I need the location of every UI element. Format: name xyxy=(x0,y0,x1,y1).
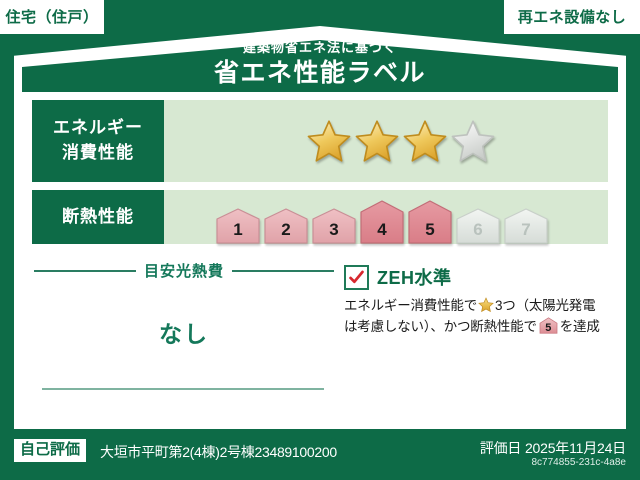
evaluation-id: 8c774855-231c-4a8e xyxy=(531,457,626,468)
star-rating xyxy=(164,100,608,182)
utility-cost-value: なし xyxy=(34,315,334,349)
insulation-step-2: 2 xyxy=(263,208,309,244)
zeh-description: エネルギー消費性能で 3つ（太陽光発電 xyxy=(344,296,606,338)
insulation-step-7: 7 xyxy=(503,208,549,244)
label-card: エネルギー 消費性能 断熱性能 1234567 目安光熱費 なし xyxy=(22,92,618,422)
energy-label-line2: 消費性能 xyxy=(62,141,134,166)
renewable-energy-tag: 再エネ設備なし xyxy=(504,0,640,34)
zeh-checkbox-checked-icon xyxy=(344,265,369,290)
star-filled-icon xyxy=(403,119,447,163)
cost-underline xyxy=(42,388,324,390)
zeh-title: ZEH水準 xyxy=(377,264,452,290)
insulation-step-5: 5 xyxy=(407,200,453,244)
energy-performance-row: エネルギー 消費性能 xyxy=(32,100,608,182)
evaluation-date-value: 2025年11月24日 xyxy=(525,440,626,456)
insulation-scale: 1234567 xyxy=(164,190,608,244)
evaluation-date: 評価日 2025年11月24日 xyxy=(480,438,626,458)
insulation-step-3: 3 xyxy=(311,208,357,244)
energy-label-line1: エネルギー xyxy=(53,116,143,141)
star-filled-icon xyxy=(355,119,399,163)
cost-rule-left xyxy=(34,270,136,272)
energy-performance-label: エネルギー 消費性能 xyxy=(32,100,164,182)
building-type-tag: 住宅（住戸） xyxy=(0,0,104,34)
zeh-desc-part2: は考慮しない）、かつ断熱性能で xyxy=(344,319,537,334)
zeh-block: ZEH水準 エネルギー消費性能で xyxy=(334,258,606,408)
zeh-desc-part3: を達成 xyxy=(560,319,600,334)
insulation-step-4: 4 xyxy=(359,200,405,244)
insulation-performance-label: 断熱性能 xyxy=(32,190,164,244)
zeh-desc-part1: エネルギー消費性能で xyxy=(344,298,477,313)
lower-section: 目安光熱費 なし ZEH水準 エネルギー消費性能で xyxy=(34,258,606,408)
utility-cost-heading: 目安光熱費 xyxy=(34,260,334,281)
star-empty-icon xyxy=(451,119,495,163)
evaluation-date-label: 評価日 xyxy=(480,440,521,456)
property-address: 大垣市平町第2(4棟)2号棟23489100200 xyxy=(100,442,337,462)
cost-heading-text: 目安光熱費 xyxy=(144,260,224,281)
label-footer: 自己評価 大垣市平町第2(4棟)2号棟23489100200 評価日 2025年… xyxy=(0,429,640,480)
zeh-desc-star-count: 3つ（太陽光発電 xyxy=(495,298,595,313)
star-filled-icon xyxy=(307,119,351,163)
self-evaluation-badge: 自己評価 xyxy=(14,439,86,462)
insulation-step-1: 1 xyxy=(215,208,261,244)
insulation-step-6: 6 xyxy=(455,208,501,244)
zeh-heading: ZEH水準 xyxy=(344,264,606,290)
cost-rule-right xyxy=(232,270,334,272)
inline-house-number: 5 xyxy=(539,323,558,334)
inline-house-badge: 5 xyxy=(539,317,558,334)
insulation-performance-row: 断熱性能 1234567 xyxy=(32,190,608,244)
inline-star-icon xyxy=(478,297,494,313)
utility-cost-block: 目安光熱費 なし xyxy=(34,258,334,408)
energy-label-root: 住宅（住戸） 再エネ設備なし 建築物省エネ法に基づく 省エネ性能ラベル エネルギ… xyxy=(0,0,640,480)
